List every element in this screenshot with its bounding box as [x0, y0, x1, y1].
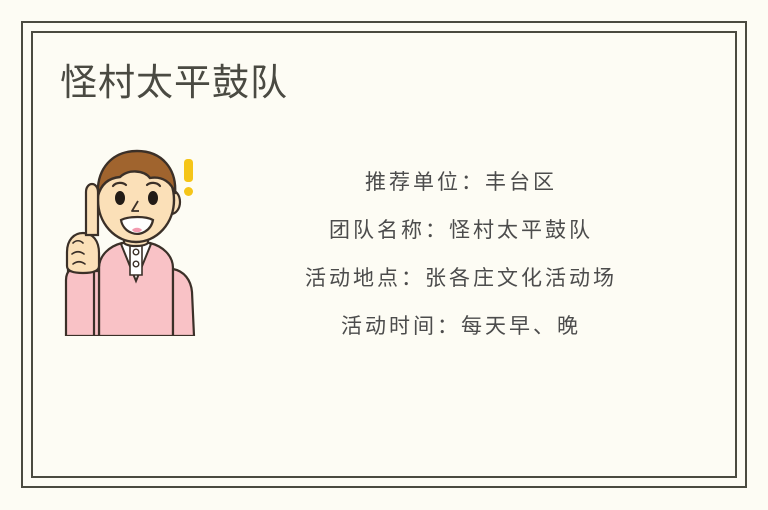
pointing-man-illustration — [58, 140, 218, 336]
document-page: 怪村太平鼓队 — [0, 0, 768, 510]
info-line-team-name: 团队名称：怪村太平鼓队 — [226, 206, 696, 254]
info-line-recommending-unit: 推荐单位：丰台区 — [226, 158, 696, 206]
info-line-activity-location: 活动地点：张各庄文化活动场 — [226, 254, 696, 302]
exclamation-icon — [184, 159, 193, 196]
content-row: 推荐单位：丰台区 团队名称：怪村太平鼓队 活动地点：张各庄文化活动场 活动时间：… — [50, 140, 710, 350]
info-block: 推荐单位：丰台区 团队名称：怪村太平鼓队 活动地点：张各庄文化活动场 活动时间：… — [226, 158, 696, 350]
page-title: 怪村太平鼓队 — [60, 58, 288, 108]
info-line-activity-time: 活动时间：每天早、晚 — [226, 302, 696, 350]
